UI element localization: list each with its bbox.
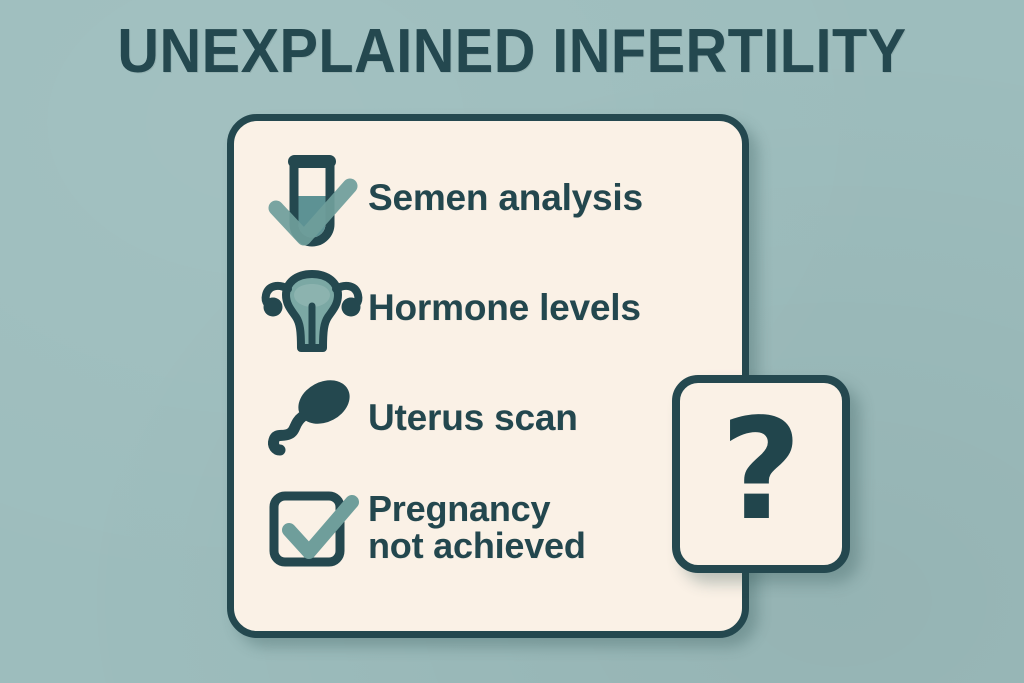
list-item-label: Semen analysis xyxy=(368,179,643,217)
sperm-icon xyxy=(256,366,368,470)
list-item[interactable]: Pregnancy not achieved xyxy=(256,473,742,583)
list-item-label-line1: Pregnancy xyxy=(368,488,550,529)
list-item[interactable]: Semen analysis xyxy=(256,143,742,253)
question-mark-icon: ? xyxy=(720,401,801,541)
question-badge[interactable]: ? xyxy=(672,375,850,573)
list-item[interactable]: Uterus scan xyxy=(256,363,742,473)
list-item-label-line2: not achieved xyxy=(368,528,586,565)
uterus-icon xyxy=(256,256,368,360)
list-item-label: Uterus scan xyxy=(368,399,578,437)
list-item-label: Pregnancy not achieved xyxy=(368,491,586,564)
checklist-card: Semen analysis xyxy=(227,114,749,638)
checkbox-checked-icon[interactable] xyxy=(256,476,368,580)
page-title: UNEXPLAINED INFERTILITY xyxy=(36,21,988,83)
checklist: Semen analysis xyxy=(234,121,742,631)
list-item[interactable]: Hormone levels xyxy=(256,253,742,363)
list-item-label: Hormone levels xyxy=(368,289,641,327)
test-tube-icon xyxy=(256,146,368,250)
